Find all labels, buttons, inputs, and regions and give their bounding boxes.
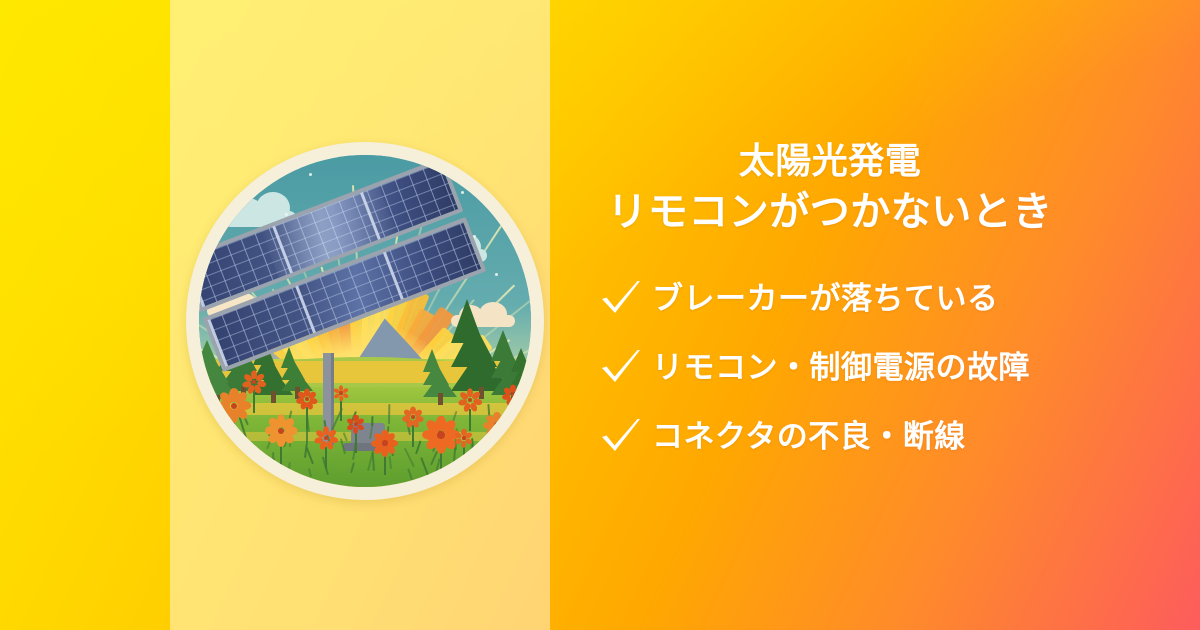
list-item: ブレーカーが落ちている	[590, 264, 1190, 333]
list-item-label: リモコン・制御電源の故障	[652, 349, 1030, 386]
checklist: ブレーカーが落ちている リモコン・制御電源の故障 コネクタの不良・断線	[590, 264, 1190, 471]
list-item-label: ブレーカーが落ちている	[652, 280, 999, 317]
check-icon	[590, 279, 652, 319]
check-icon	[590, 417, 652, 457]
illustration-scene	[199, 155, 531, 487]
list-item: リモコン・制御電源の故障	[590, 333, 1190, 402]
list-item-label: コネクタの不良・断線	[652, 418, 966, 455]
title-line-2: リモコンがつかないとき	[560, 184, 1100, 240]
hero-illustration	[186, 142, 544, 500]
list-item: コネクタの不良・断線	[590, 402, 1190, 471]
text-column: 太陽光発電 リモコンがつかないとき ブレーカーが落ちている リモコン・制御電源の…	[560, 0, 1200, 630]
check-icon	[590, 348, 652, 388]
title-line-1: 太陽光発電	[560, 138, 1100, 184]
page-title: 太陽光発電 リモコンがつかないとき	[560, 138, 1100, 240]
